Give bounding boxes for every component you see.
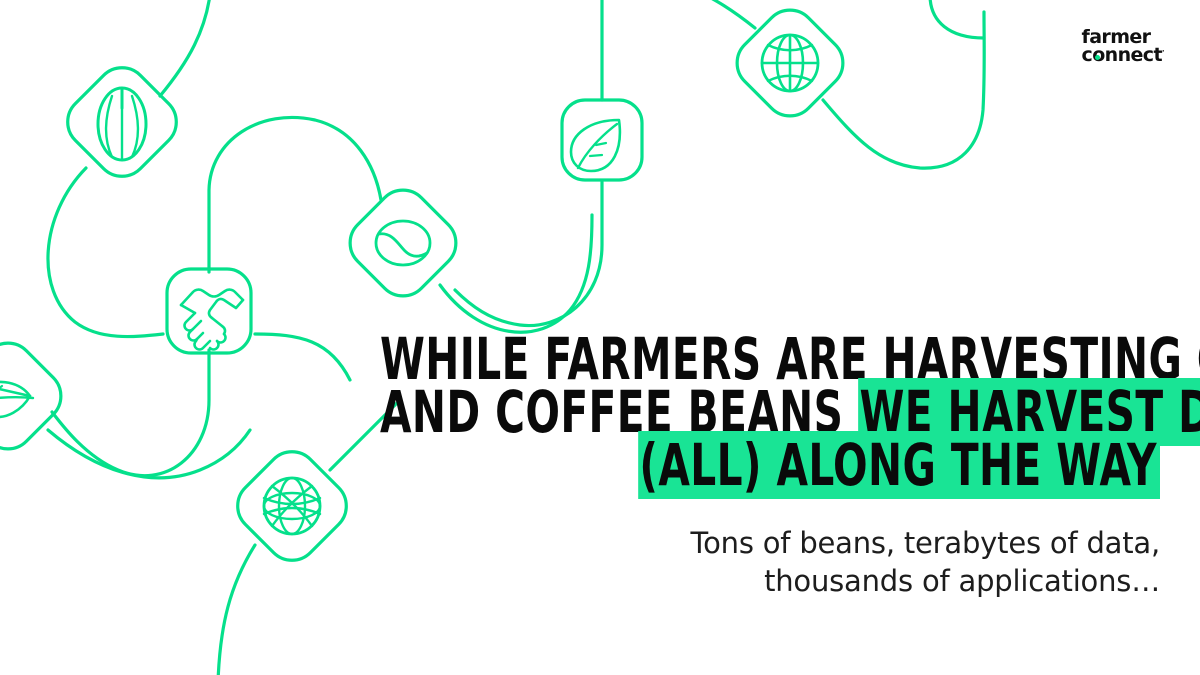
headline-line-3-highlight: (ALL) ALONG THE WAY bbox=[638, 431, 1160, 499]
connector-line bbox=[440, 215, 592, 332]
handshake-icon bbox=[181, 290, 243, 305]
node-coffee-bean bbox=[339, 179, 466, 306]
subtitle-line-2: thousands of applications… bbox=[520, 562, 1160, 600]
leaf-edge-badge bbox=[0, 332, 72, 459]
coffee-bean-crease-icon bbox=[379, 234, 427, 256]
leaf-vein-icon bbox=[0, 386, 2, 392]
node-globe-top bbox=[726, 0, 853, 127]
connector-line bbox=[218, 545, 255, 675]
headline-line-3: (ALL) ALONG THE WAY bbox=[380, 440, 1160, 491]
leaf-icon bbox=[0, 382, 30, 396]
leaf-vein-icon bbox=[596, 143, 606, 145]
globe-meridian-icon bbox=[777, 35, 803, 91]
coffee-bean-badge bbox=[339, 179, 466, 306]
handshake-icon bbox=[212, 318, 225, 334]
leaf-badge bbox=[562, 100, 642, 180]
connector-line bbox=[160, 0, 210, 96]
handshake-icon bbox=[181, 305, 195, 313]
farmer-connect-logo: farmer connect· bbox=[1082, 28, 1164, 64]
connector-line bbox=[455, 182, 602, 326]
leaf-vein-icon bbox=[590, 155, 602, 156]
globe-mesh-line-icon bbox=[264, 498, 320, 504]
logo-text-connect: connect bbox=[1082, 44, 1162, 66]
connector-line bbox=[209, 117, 381, 272]
globe-parallel-icon bbox=[768, 45, 812, 50]
handshake-icon bbox=[209, 299, 243, 318]
logo-trademark-mark: · bbox=[1162, 48, 1164, 56]
node-cocoa-pod bbox=[57, 57, 187, 187]
cocoa-pod-rib-icon bbox=[106, 96, 112, 157]
connector-line bbox=[930, 0, 984, 38]
globe-badge bbox=[726, 0, 853, 127]
cocoa-pod-rib-icon bbox=[132, 96, 138, 157]
subtitle: Tons of beans, terabytes of data, thousa… bbox=[520, 524, 1160, 601]
leaf-icon bbox=[571, 120, 620, 171]
globe-mesh-parallel-icon bbox=[264, 493, 320, 519]
connector-line bbox=[700, 0, 755, 28]
leaf-vein-icon bbox=[578, 124, 617, 168]
globe-parallel-icon bbox=[768, 76, 812, 81]
globe-icon bbox=[762, 35, 818, 91]
node-leaf-edge bbox=[0, 332, 72, 459]
cocoa-pod-icon bbox=[98, 88, 146, 160]
handshake-icon bbox=[185, 313, 202, 331]
cocoa-pod-badge bbox=[57, 57, 187, 187]
coffee-bean-icon bbox=[376, 221, 430, 265]
headline: WHILE FARMERS ARE HARVESTING COCOA AND C… bbox=[160, 334, 1160, 493]
globe-mesh-line-icon bbox=[264, 508, 320, 514]
node-leaf bbox=[562, 100, 642, 180]
leaf-icon bbox=[0, 386, 30, 417]
connector-line bbox=[48, 168, 163, 337]
logo-text-connect-wrap: connect· bbox=[1082, 46, 1164, 64]
connector-line bbox=[823, 12, 984, 168]
leaf-vein-icon bbox=[0, 397, 33, 402]
subtitle-line-1: Tons of beans, terabytes of data, bbox=[520, 524, 1160, 562]
slide-canvas: farmer connect· WHILE FARMERS ARE HARVES… bbox=[0, 0, 1200, 675]
